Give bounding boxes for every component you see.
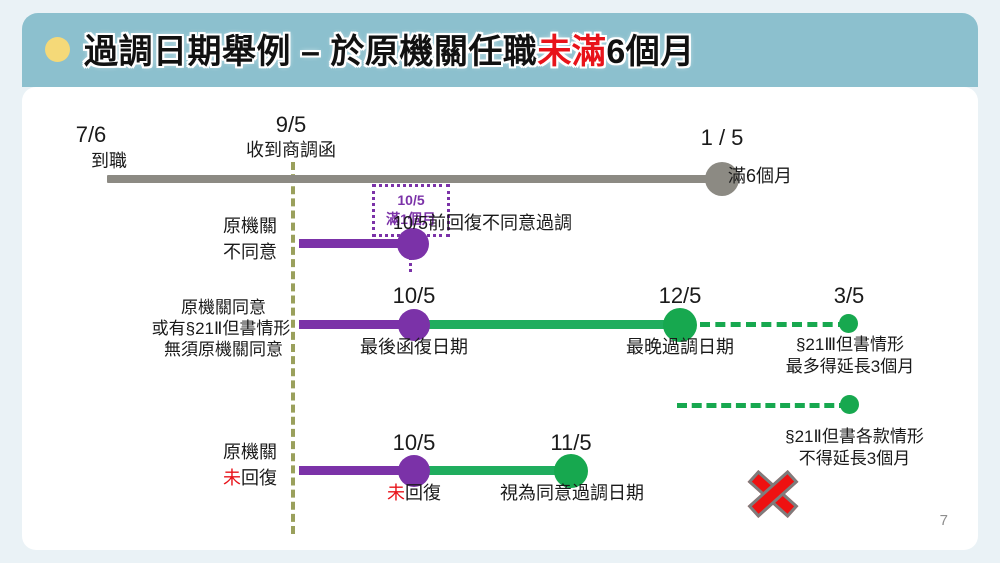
- page-title-main: 過調日期舉例: [84, 33, 291, 71]
- row2-extension-dashed-line: [700, 322, 848, 327]
- row3-end-marker: [840, 395, 859, 414]
- row1-label-line2: 不同意: [152, 242, 277, 264]
- row2-marker-2-date: 12/5: [640, 283, 720, 310]
- main-start-note: 到職: [47, 151, 127, 173]
- header-card: 過調日期舉例 – 於原機關任職未滿6個月: [22, 13, 978, 87]
- row2-marker-3-note-line1: §21Ⅲ但書情形: [771, 335, 929, 356]
- row4-label-rest: 回復: [241, 468, 277, 488]
- main-timeline-bar: [107, 175, 738, 183]
- main-end-date: 1 / 5: [682, 125, 762, 152]
- page-title-highlight: 未滿: [537, 33, 606, 71]
- row2-green-bar: [417, 320, 687, 329]
- page-number: 7: [940, 512, 948, 529]
- header-bullet-icon: [45, 37, 70, 62]
- main-end-note: 滿6個月: [728, 166, 792, 188]
- row4-label-line1: 原機關: [152, 442, 277, 464]
- row2-label-line3: 無須原機關同意: [152, 340, 295, 361]
- row3-note-line2: 不得延長3個月: [767, 449, 942, 470]
- row4-label-highlight: 未: [223, 468, 241, 488]
- callout-date: 10/5: [381, 191, 441, 210]
- row2-marker-3-note-line2: 最多得延長3個月: [767, 357, 933, 378]
- row4-label-line2: 未回復: [152, 468, 277, 490]
- row4-marker-2-note: 視為同意過調日期: [496, 483, 648, 505]
- divider-date: 9/5: [251, 112, 331, 139]
- row2-marker-1-date: 10/5: [374, 283, 454, 310]
- row4-marker-1-date: 10/5: [374, 430, 454, 457]
- row4-green-bar: [417, 466, 577, 475]
- x-mark-icon: [744, 472, 802, 516]
- row2-label-line2: 或有§21Ⅱ但書情形: [146, 319, 296, 340]
- row2-marker-1-note: 最後函復日期: [354, 337, 474, 359]
- row3-note-line1: §21Ⅱ但書各款情形: [767, 427, 942, 448]
- row2-marker-3-date: 3/5: [809, 283, 889, 310]
- page-title: 過調日期舉例 – 於原機關任職未滿6個月: [84, 24, 695, 73]
- row4-marker-1-note: 未回復: [374, 483, 454, 505]
- row2-marker-2-note: 最晚過調日期: [618, 337, 742, 359]
- page-title-sub-before: 於原機關任職: [330, 33, 537, 71]
- page-title-dash: –: [301, 33, 320, 71]
- page-title-sub-after: 6個月: [606, 33, 694, 71]
- row2-label-line1: 原機關同意: [152, 298, 295, 319]
- row2-marker-3: [839, 314, 858, 333]
- divider-note: 收到商調函: [236, 140, 346, 162]
- row1-marker-note: 10/5前回復不同意過調: [393, 213, 572, 235]
- row1-label-line1: 原機關: [152, 216, 277, 238]
- content-card: 10/5 滿1個月 7/6 到職 9/5 收到商調函 1 / 5 滿6個月 原機…: [22, 87, 978, 550]
- row4-marker-2-date: 11/5: [531, 430, 611, 457]
- row4-marker-1-note-highlight: 未: [387, 483, 405, 503]
- row3-dashed-line: [677, 403, 849, 408]
- main-start-date: 7/6: [55, 122, 127, 149]
- row4-marker-1-note-rest: 回復: [405, 483, 441, 503]
